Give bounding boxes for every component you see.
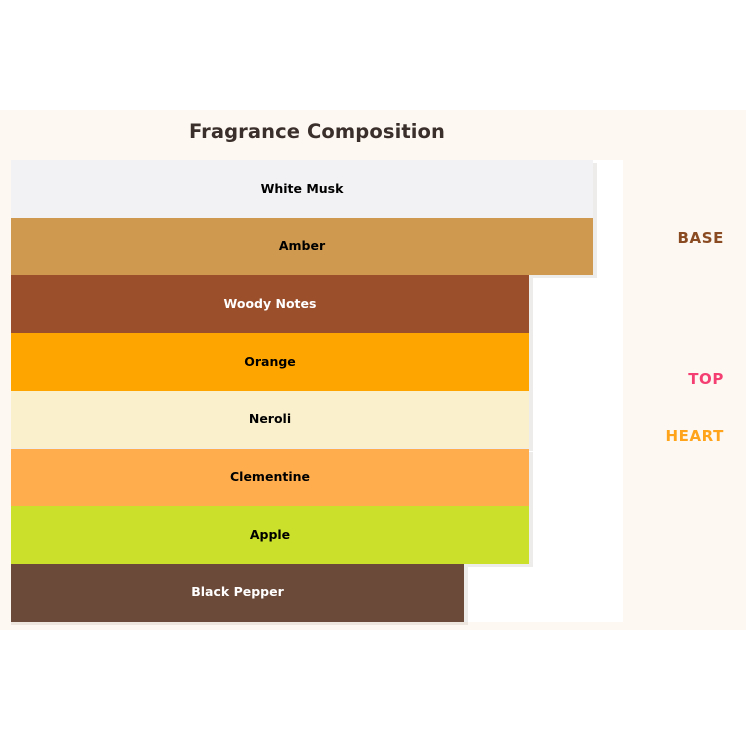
bar-row: Clementine — [11, 449, 623, 507]
bar-row: Neroli — [11, 391, 623, 449]
bar-label: Woody Notes — [224, 298, 317, 311]
bar-label: White Musk — [261, 183, 344, 196]
bar-label: Clementine — [230, 471, 310, 484]
bar-segment[interactable]: Black Pepper — [11, 564, 464, 622]
bar-row: White Musk — [11, 160, 623, 218]
bar-segment[interactable]: Clementine — [11, 449, 529, 507]
bar-row: Amber — [11, 218, 623, 276]
bar-row: Apple — [11, 506, 623, 564]
chart-title: Fragrance Composition — [0, 120, 634, 143]
bar-row: Black Pepper — [11, 564, 623, 622]
bar-label: Apple — [250, 529, 290, 542]
bar-segment[interactable]: Woody Notes — [11, 275, 529, 333]
bar-segment[interactable]: White Musk — [11, 160, 593, 218]
group-label-base: BASE — [678, 229, 725, 247]
bar-row: Woody Notes — [11, 275, 623, 333]
bar-label: Black Pepper — [191, 586, 284, 599]
group-label-top: TOP — [688, 370, 724, 388]
bar-label: Amber — [279, 240, 325, 253]
bar-label: Neroli — [249, 413, 291, 426]
chart-figure: Fragrance Composition White MuskAmberWoo… — [0, 110, 746, 630]
plot-area: White MuskAmberWoody NotesOrangeNeroliCl… — [11, 160, 623, 622]
bar-label: Orange — [244, 356, 296, 369]
bar-row: Orange — [11, 333, 623, 391]
group-label-heart: HEART — [665, 427, 724, 445]
bar-segment[interactable]: Neroli — [11, 391, 529, 449]
bar-segment[interactable]: Apple — [11, 506, 529, 564]
bar-segment[interactable]: Orange — [11, 333, 529, 391]
bar-segment[interactable]: Amber — [11, 218, 593, 276]
